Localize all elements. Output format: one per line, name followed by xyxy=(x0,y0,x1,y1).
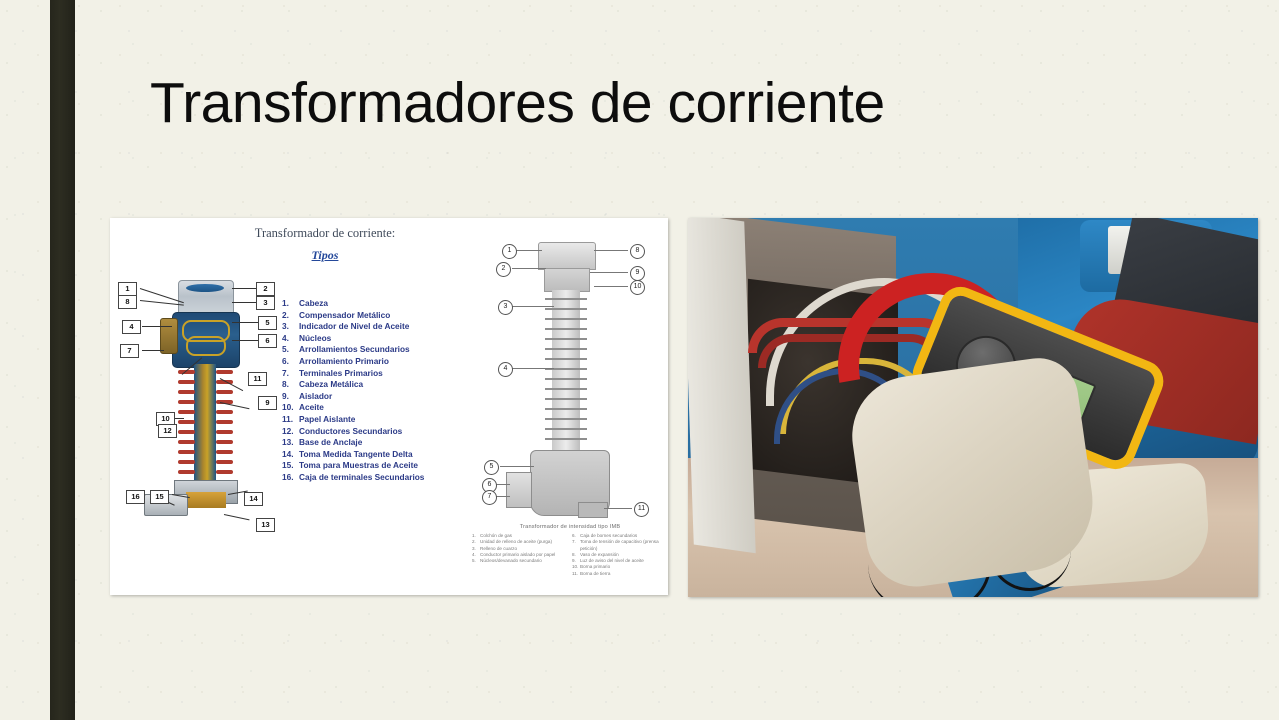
legend-item: 13.Base de Anclaje xyxy=(282,437,472,449)
caption-column-right: 6.Caja de bornes secundarios 7.Toma de t… xyxy=(572,533,664,577)
diagram-image-panel[interactable]: Transformador de corriente: Tipos xyxy=(110,218,668,595)
td-terminal-box-shape xyxy=(506,472,532,508)
legend-number: 8. xyxy=(282,379,299,391)
legend-item: 2.Compensador Metálico xyxy=(282,310,472,322)
circle-callout-9: 9 xyxy=(630,266,645,281)
legend-item: 8.Cabeza Metálica xyxy=(282,379,472,391)
caption-item: 11.Borna de tierra xyxy=(572,571,664,577)
legend-item: 5.Arrollamientos Secundarios xyxy=(282,344,472,356)
legend-item: 14.Toma Medida Tangente Delta xyxy=(282,449,472,461)
slide-canvas: Transformadores de corriente Transformad… xyxy=(0,0,1279,720)
insulator-stem-shape xyxy=(194,364,216,482)
caption-number: 7. xyxy=(572,539,580,552)
callout-box-3: 3 xyxy=(256,296,275,310)
legend-number: 5. xyxy=(282,344,299,356)
caption-item: 5.Núcleos/devanado secundario xyxy=(472,558,564,564)
legend-number: 3. xyxy=(282,321,299,333)
legend-label: Cabeza xyxy=(299,298,328,310)
legend-item: 11.Papel Aislante xyxy=(282,414,472,426)
diagram-title: Transformador de corriente: xyxy=(110,226,540,241)
legend-label: Núcleos xyxy=(299,333,331,345)
oil-flange-shape xyxy=(186,492,226,508)
legend-item: 9.Aislador xyxy=(282,391,472,403)
td-neck-shape xyxy=(544,268,590,292)
legend-number: 13. xyxy=(282,437,299,449)
primary-winding-shape xyxy=(186,336,226,356)
legend-label: Toma Medida Tangente Delta xyxy=(299,449,413,461)
legend-item: 16.Caja de terminales Secundarios xyxy=(282,472,472,484)
photo-image-panel[interactable]: 72 230 xyxy=(688,218,1258,597)
gloved-hand-shape xyxy=(845,353,1102,593)
legend-label: Caja de terminales Secundarios xyxy=(299,472,424,484)
clamp-meter-photo: 72 230 xyxy=(688,218,1258,597)
legend-label: Aislador xyxy=(299,391,332,403)
legend-label: Papel Aislante xyxy=(299,414,355,426)
callout-box-12: 12 xyxy=(158,424,177,438)
caption-number: 5. xyxy=(472,558,480,564)
callout-box-14: 14 xyxy=(244,492,263,506)
circle-callout-4: 4 xyxy=(498,362,513,377)
diagram-subtitle: Tipos xyxy=(110,248,540,263)
callout-box-6: 6 xyxy=(258,334,277,348)
legend-number: 14. xyxy=(282,449,299,461)
circle-callout-3: 3 xyxy=(498,300,513,315)
page-title: Transformadores de corriente xyxy=(150,72,1050,134)
callout-box-7: 7 xyxy=(120,344,139,358)
circle-callout-7: 7 xyxy=(482,490,497,505)
caption-number: 11. xyxy=(572,571,580,577)
slide-accent-bar xyxy=(50,0,75,720)
legend-number: 6. xyxy=(282,356,299,368)
legend-number: 9. xyxy=(282,391,299,403)
td-foot-shape xyxy=(578,502,608,518)
caption-column-left: 1.Colchón de gas 2.Unidad de relleno de … xyxy=(472,533,564,577)
td-insulator-shape xyxy=(552,290,580,450)
caption-item: 7.Toma de tensión de capacitivo (prensa … xyxy=(572,539,664,552)
technical-drawing-illustration: 1 2 3 4 5 6 7 8 9 10 11 xyxy=(482,228,668,528)
core-shape xyxy=(160,318,178,354)
transformer-head-cap-shape xyxy=(186,284,224,292)
legend-item: 1.Cabeza xyxy=(282,298,472,310)
technical-drawing-caption: Transformador de intensidad tipo IMB 1.C… xyxy=(472,524,668,577)
callout-box-13: 13 xyxy=(256,518,275,532)
cutaway-transformer-illustration: 1 8 4 7 2 3 5 6 10 11 9 12 16 15 14 13 xyxy=(116,266,284,566)
legend-number: 10. xyxy=(282,402,299,414)
legend-item: 6.Arrollamiento Primario xyxy=(282,356,472,368)
legend-number: 12. xyxy=(282,426,299,438)
callout-box-11: 11 xyxy=(248,372,267,386)
callout-box-9: 9 xyxy=(258,396,277,410)
legend-label: Indicador de Nivel de Aceite xyxy=(299,321,409,333)
legend-label: Aceite xyxy=(299,402,324,414)
legend-label: Arrollamientos Secundarios xyxy=(299,344,410,356)
legend-item: 15.Toma para Muestras de Aceite xyxy=(282,460,472,472)
callout-box-2: 2 xyxy=(256,282,275,296)
circle-callout-5: 5 xyxy=(484,460,499,475)
callout-box-5: 5 xyxy=(258,316,277,330)
legend-label: Conductores Secundarios xyxy=(299,426,402,438)
callout-box-4: 4 xyxy=(122,320,141,334)
legend-number: 1. xyxy=(282,298,299,310)
caption-label: Núcleos/devanado secundario xyxy=(480,558,542,564)
callout-box-15: 15 xyxy=(150,490,169,504)
circle-callout-11: 11 xyxy=(634,502,649,517)
circle-callout-8: 8 xyxy=(630,244,645,259)
terminal-box-lid-shape xyxy=(688,218,756,553)
legend-label: Compensador Metálico xyxy=(299,310,390,322)
legend-label: Base de Anclaje xyxy=(299,437,362,449)
caption-label: Borna de tierra xyxy=(580,571,610,577)
legend-item: 4.Núcleos xyxy=(282,333,472,345)
legend-label: Toma para Muestras de Aceite xyxy=(299,460,418,472)
legend-label: Terminales Primarios xyxy=(299,368,383,380)
legend-item: 12.Conductores Secundarios xyxy=(282,426,472,438)
caption-title: Transformador de intensidad tipo IMB xyxy=(472,524,668,530)
legend-item: 10.Aceite xyxy=(282,402,472,414)
callout-box-16: 16 xyxy=(126,490,145,504)
circle-callout-2: 2 xyxy=(496,262,511,277)
td-head-shape xyxy=(538,242,596,270)
legend-label: Arrollamiento Primario xyxy=(299,356,389,368)
legend-number: 16. xyxy=(282,472,299,484)
callout-box-1: 1 xyxy=(118,282,137,296)
legend-number: 2. xyxy=(282,310,299,322)
legend-number: 15. xyxy=(282,460,299,472)
legend-item: 3.Indicador de Nivel de Aceite xyxy=(282,321,472,333)
legend-number: 11. xyxy=(282,414,299,426)
legend-label: Cabeza Metálica xyxy=(299,379,363,391)
callout-box-8: 8 xyxy=(118,295,137,309)
circle-callout-10: 10 xyxy=(630,280,645,295)
caption-label: Toma de tensión de capacitivo (prensa pe… xyxy=(580,539,664,552)
legend-number: 4. xyxy=(282,333,299,345)
legend-number: 7. xyxy=(282,368,299,380)
circle-callout-1: 1 xyxy=(502,244,517,259)
component-legend-list: 1.Cabeza 2.Compensador Metálico 3.Indica… xyxy=(282,298,472,484)
legend-item: 7.Terminales Primarios xyxy=(282,368,472,380)
